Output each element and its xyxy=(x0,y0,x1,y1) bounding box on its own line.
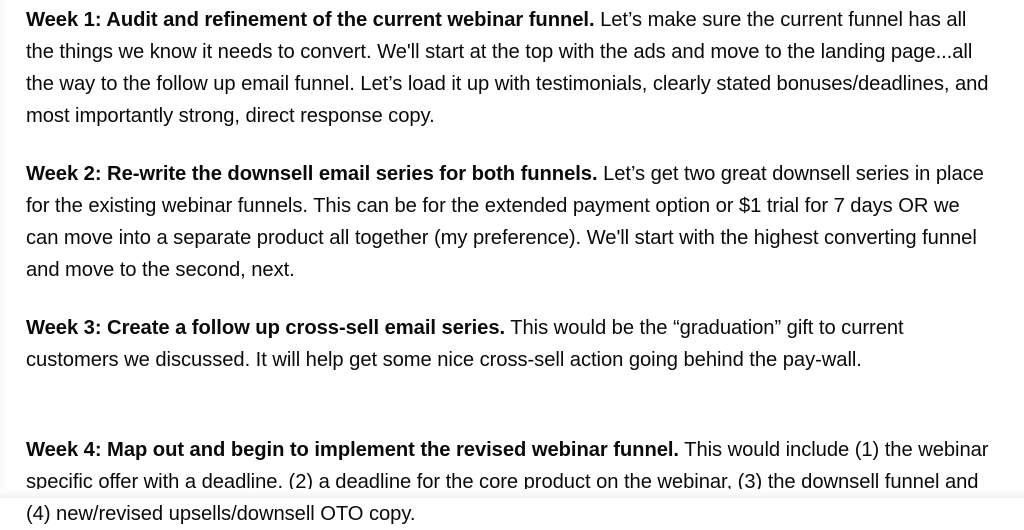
document-text-body: Week 1: Audit and refinement of the curr… xyxy=(26,4,996,530)
paragraph-week-1-lead: Week 1: Audit and refinement of the curr… xyxy=(26,9,595,31)
document-page: Week 1: Audit and refinement of the curr… xyxy=(0,0,1024,498)
paragraph-week-3: Week 3: Create a follow up cross-sell em… xyxy=(26,312,996,376)
paragraph-week-4: Week 4: Map out and begin to implement t… xyxy=(26,434,996,530)
left-edge-shadow xyxy=(0,0,7,498)
paragraph-week-2: Week 2: Re-write the downsell email seri… xyxy=(26,158,996,286)
paragraph-week-1: Week 1: Audit and refinement of the curr… xyxy=(26,4,996,132)
paragraph-week-2-lead: Week 2: Re-write the downsell email seri… xyxy=(26,163,598,185)
paragraph-week-3-lead: Week 3: Create a follow up cross-sell em… xyxy=(26,317,505,339)
paragraph-week-4-lead: Week 4: Map out and begin to implement t… xyxy=(26,439,679,461)
